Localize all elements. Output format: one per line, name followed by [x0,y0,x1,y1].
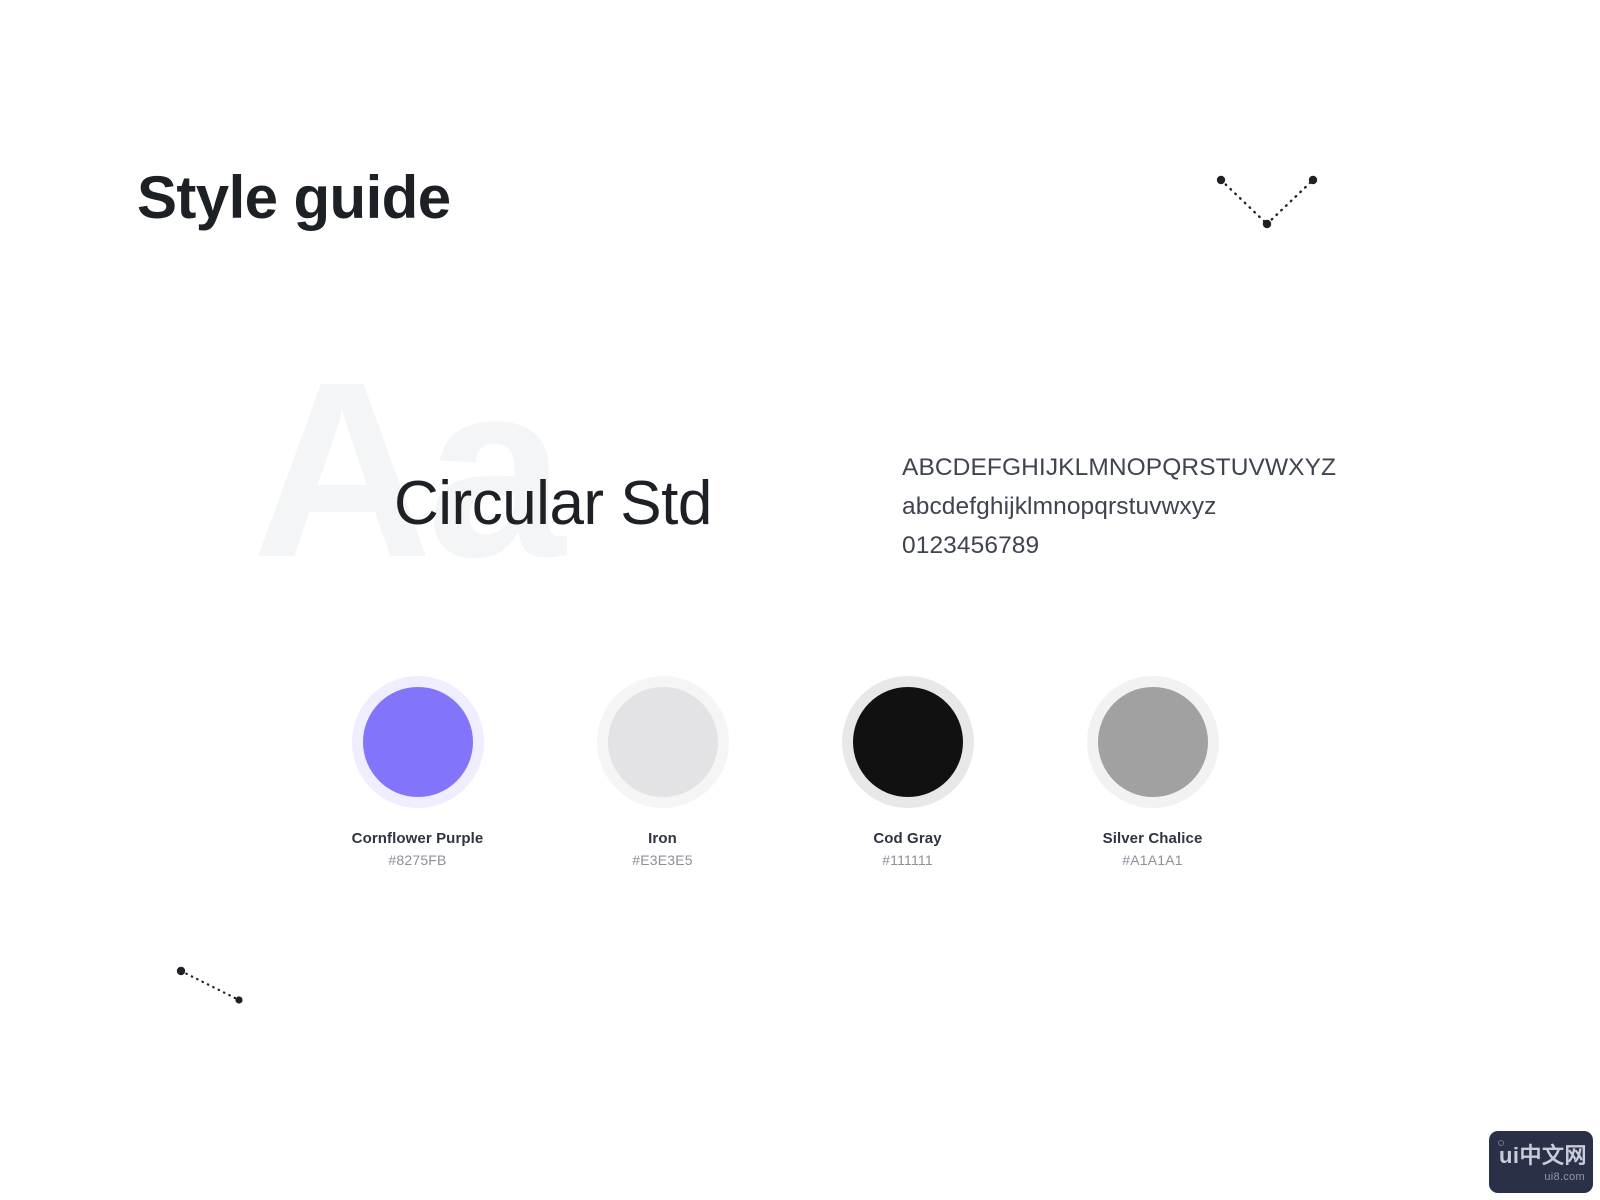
swatch-hex: #8275FB [388,852,446,868]
swatch-name: Cod Gray [873,830,941,847]
swatch-hex: #111111 [882,852,933,868]
dotted-line-decoration [170,955,255,1010]
page-title: Style guide [137,163,450,232]
swatch-ring [842,676,974,808]
dotted-chevron-decoration [1205,160,1335,245]
swatch-name: Iron [648,830,677,847]
swatch-hex: #A1A1A1 [1122,852,1183,868]
color-swatch[interactable]: Silver Chalice #A1A1A1 [1030,676,1275,868]
swatch-fill [1098,687,1208,797]
swatch-ring [352,676,484,808]
specimen-uppercase: ABCDEFGHIJKLMNOPQRSTUVWXYZ [902,448,1362,487]
watermark-url: ui8.com [1489,1171,1585,1183]
specimen-lowercase: abcdefghijklmnopqrstuvwxyz [902,487,1362,526]
swatch-name: Cornflower Purple [352,830,484,847]
site-watermark-badge: ui中文网 ui8.com [1489,1131,1593,1193]
font-name-label: Circular Std [394,468,712,539]
swatch-hex: #E3E3E5 [632,852,693,868]
swatch-ring [1087,676,1219,808]
style-guide-page: Style guide Aa Circular Std ABCDEFGHIJKL… [0,0,1600,1200]
swatch-fill [853,687,963,797]
aa-watermark-glyphs: Aa [252,345,560,595]
color-swatch[interactable]: Cod Gray #111111 [785,676,1030,868]
color-swatch[interactable]: Iron #E3E3E5 [540,676,785,868]
swatch-name: Silver Chalice [1103,830,1203,847]
color-swatch[interactable]: Cornflower Purple #8275FB [295,676,540,868]
dotted-chevron-icon [1205,160,1335,245]
watermark-logo: ui中文网 [1489,1144,1587,1168]
dotted-line-icon [170,955,255,1010]
swatch-ring [597,676,729,808]
specimen-numerals: 0123456789 [902,526,1362,565]
swatch-fill [608,687,718,797]
font-specimen: ABCDEFGHIJKLMNOPQRSTUVWXYZ abcdefghijklm… [902,448,1362,565]
color-palette: Cornflower Purple #8275FB Iron #E3E3E5 C… [295,676,1275,868]
swatch-fill [363,687,473,797]
